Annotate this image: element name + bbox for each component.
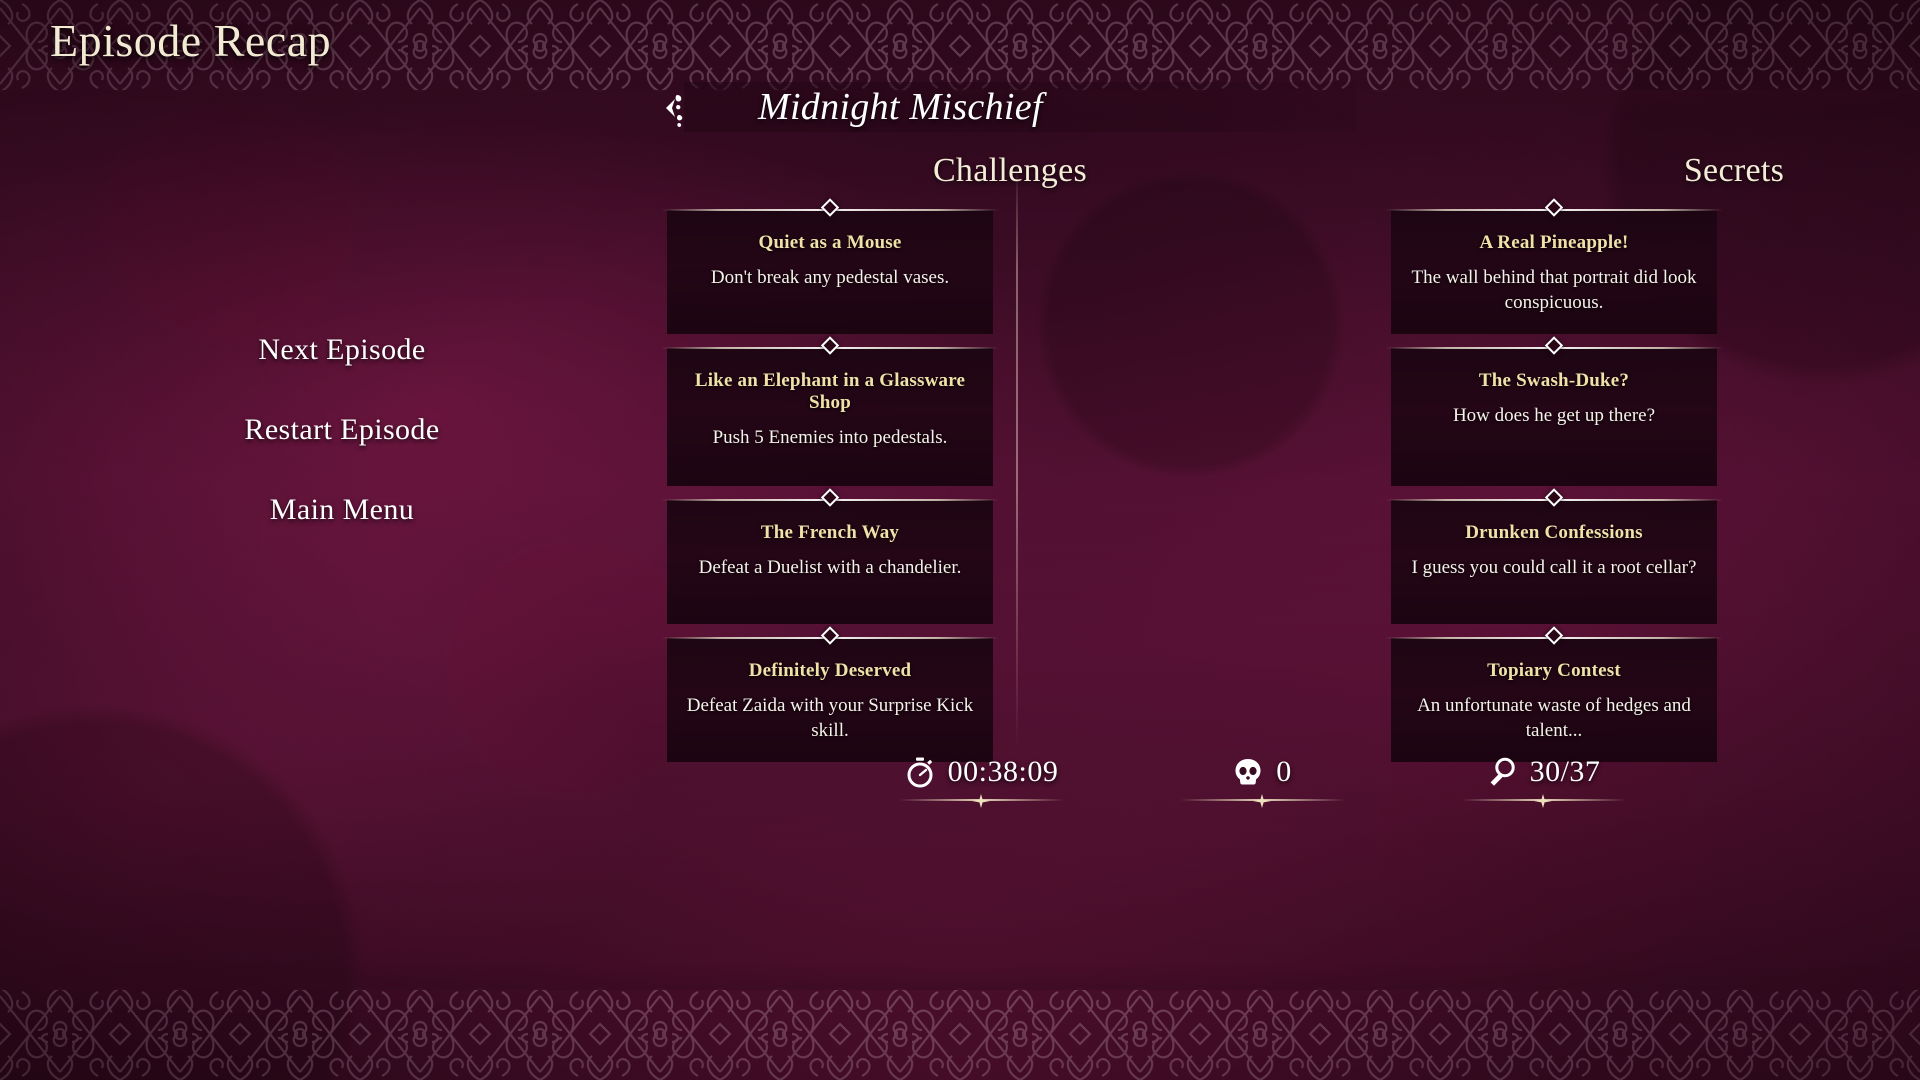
- stat-rule: [1180, 794, 1345, 806]
- card-description: An unfortunate waste of hedges and talen…: [1407, 694, 1701, 743]
- kills-value: 0: [1276, 755, 1292, 789]
- secret-card[interactable]: Drunken Confessions I guess you could ca…: [1391, 500, 1717, 624]
- challenge-card[interactable]: Definitely Deserved Defeat Zaida with yo…: [667, 638, 993, 762]
- stopwatch-icon: [904, 756, 936, 788]
- sparkle-divider-icon: [972, 794, 990, 808]
- challenge-card[interactable]: Quiet as a Mouse Don't break any pedesta…: [667, 210, 993, 334]
- card-title: Like an Elephant in a Glassware Shop: [683, 370, 977, 414]
- sparkle-divider-icon: [1253, 794, 1271, 808]
- diamond-ornament-icon: [1545, 336, 1563, 354]
- card-description: The wall behind that portrait did look c…: [1407, 266, 1701, 315]
- magnifier-icon: [1486, 756, 1518, 788]
- column-heading-secrets: Secrets: [1391, 152, 1920, 190]
- card-description: Defeat a Duelist with a chandelier.: [683, 556, 977, 581]
- diamond-ornament-icon: [1545, 488, 1563, 506]
- diamond-ornament-icon: [821, 336, 839, 354]
- card-description: How does he get up there?: [1407, 404, 1701, 429]
- secret-card[interactable]: Topiary Contest An unfortunate waste of …: [1391, 638, 1717, 762]
- episode-title: Midnight Mischief: [758, 85, 1043, 129]
- secret-card[interactable]: A Real Pineapple! The wall behind that p…: [1391, 210, 1717, 334]
- card-title: The French Way: [683, 522, 977, 544]
- sparkle-divider-icon: [1534, 794, 1552, 808]
- column-heading-challenges: Challenges: [667, 152, 1353, 190]
- diamond-ornament-icon: [821, 198, 839, 216]
- challenge-card[interactable]: Like an Elephant in a Glassware Shop Pus…: [667, 348, 993, 486]
- card-title: Quiet as a Mouse: [683, 232, 977, 254]
- card-title: Topiary Contest: [1407, 660, 1701, 682]
- card-title: The Swash-Duke?: [1407, 370, 1701, 392]
- secret-card[interactable]: The Swash-Duke? How does he get up there…: [1391, 348, 1717, 486]
- card-description: Defeat Zaida with your Surprise Kick ski…: [683, 694, 977, 743]
- page-title: Episode Recap: [50, 14, 331, 67]
- stat-rule: [899, 794, 1064, 806]
- episode-menu: Next Episode Restart Episode Main Menu: [0, 330, 684, 530]
- menu-item-next-episode[interactable]: Next Episode: [240, 330, 443, 370]
- time-value: 00:38:09: [948, 755, 1059, 789]
- diamond-ornament-icon: [1545, 626, 1563, 644]
- column-challenges: Challenges Quiet as a Mouse Don't break …: [667, 152, 1353, 776]
- card-title: Definitely Deserved: [683, 660, 977, 682]
- card-description: I guess you could call it a root cellar?: [1407, 556, 1701, 581]
- diamond-ornament-icon: [821, 488, 839, 506]
- card-title: Drunken Confessions: [1407, 522, 1701, 544]
- menu-item-restart-episode[interactable]: Restart Episode: [226, 410, 457, 450]
- stat-rule: [1461, 794, 1626, 806]
- secrets-found-value: 30/37: [1530, 755, 1601, 789]
- diamond-ornament-icon: [1545, 198, 1563, 216]
- card-description: Push 5 Enemies into pedestals.: [683, 426, 977, 451]
- episode-title-bar: Midnight Mischief: [684, 82, 1356, 132]
- time-stat: 00:38:09: [889, 752, 1074, 806]
- sparkle-ornament-icon: [650, 86, 694, 130]
- kills-stat: 0: [1170, 752, 1355, 806]
- episode-stats-bar: 00:38:09 0: [667, 752, 1857, 806]
- challenge-card[interactable]: The French Way Defeat a Duelist with a c…: [667, 500, 993, 624]
- diamond-ornament-icon: [821, 626, 839, 644]
- skull-icon: [1232, 756, 1264, 788]
- card-title: A Real Pineapple!: [1407, 232, 1701, 254]
- column-secrets: Secrets A Real Pineapple! The wall behin…: [1391, 152, 1920, 776]
- recap-columns: Challenges Quiet as a Mouse Don't break …: [667, 152, 1857, 776]
- card-description: Don't break any pedestal vases.: [683, 266, 977, 291]
- secrets-found-stat: 30/37: [1451, 752, 1636, 806]
- menu-item-main-menu[interactable]: Main Menu: [252, 490, 432, 530]
